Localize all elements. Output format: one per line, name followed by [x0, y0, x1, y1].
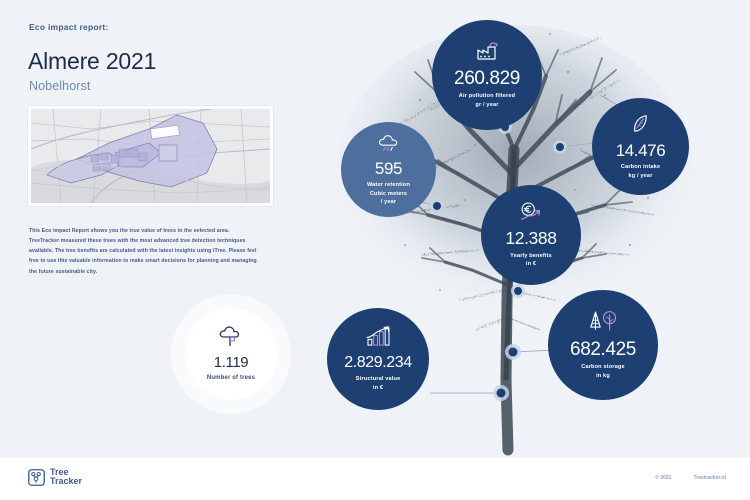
- metric-label: Carbon storage in kg: [581, 363, 624, 380]
- metric-number-of-trees[interactable]: 1.119 Number of trees: [185, 308, 277, 400]
- treetracker-logo-icon: [28, 469, 45, 486]
- bar-chart-growth-icon: [365, 326, 392, 352]
- treetracker-logo[interactable]: TreeTracker: [28, 468, 82, 487]
- report-description: This Eco impact Report shows you the tru…: [29, 226, 257, 277]
- metric-value: 260.829: [454, 69, 520, 88]
- copyright-year: © 2021: [655, 475, 671, 481]
- metric-yearly-benefits[interactable]: 12.388 Yearly benefits in €: [481, 185, 581, 285]
- eco-impact-report-page: Eco impact report: Almere 2021 Nobelhors…: [0, 0, 750, 500]
- tree-icon: [218, 325, 244, 352]
- area-map[interactable]: [28, 106, 273, 206]
- page-title: Almere 2021: [28, 48, 156, 75]
- metric-value: 12.388: [505, 230, 556, 248]
- metric-structural-value[interactable]: 2.829.234 Structural value in €: [327, 308, 429, 410]
- logo-line-2: Tracker: [50, 476, 82, 486]
- metric-label: Air pollution filtered gr / year: [459, 92, 515, 109]
- metric-value: 14.476: [616, 142, 666, 159]
- footer-copyright: © 2021 Treetracker.nl: [655, 475, 726, 481]
- page-footer: TreeTracker © 2021 Treetracker.nl: [0, 458, 750, 500]
- website-name: Treetracker.nl: [693, 475, 726, 481]
- leaf-icon: [630, 113, 651, 139]
- metric-label: Structural value in €: [356, 375, 401, 392]
- metric-value: 682.425: [570, 340, 636, 359]
- metric-label: Yearly benefits in €: [510, 252, 552, 269]
- metric-carbon-storage[interactable]: 682.425 Carbon storage in kg: [548, 290, 658, 400]
- treetracker-logo-text: TreeTracker: [50, 468, 82, 487]
- page-subtitle: Nobelhorst: [29, 79, 90, 93]
- metric-value: 595: [375, 160, 402, 177]
- factory-icon: [475, 41, 499, 66]
- metric-air-pollution-filtered[interactable]: 260.829 Air pollution filtered gr / year: [432, 20, 542, 130]
- metric-label: Water retention Cubic meters / year: [367, 181, 410, 207]
- metric-label: Number of trees: [207, 374, 255, 383]
- rain-cloud-icon: [377, 132, 401, 157]
- metric-value: 2.829.234: [344, 355, 412, 371]
- metric-carbon-intake[interactable]: 14.476 Carbon intake kg / year: [592, 98, 689, 195]
- two-trees-icon: [588, 309, 618, 337]
- metric-label: Carbon intake kg / year: [621, 163, 660, 180]
- metric-water-retention[interactable]: 595 Water retention Cubic meters / year: [341, 122, 436, 217]
- map-graphic: [31, 109, 270, 203]
- report-eyebrow: Eco impact report:: [29, 22, 109, 32]
- euro-growth-icon: [518, 201, 544, 227]
- metric-value: 1.119: [214, 355, 248, 370]
